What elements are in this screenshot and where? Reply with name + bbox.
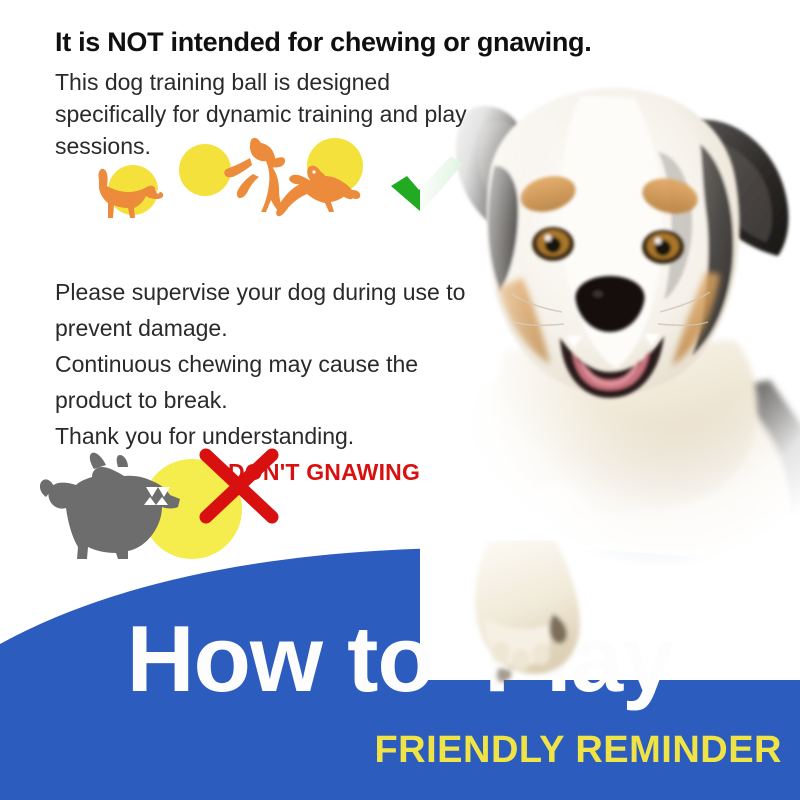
intro-paragraph: This dog training ball is designed speci… [55, 66, 485, 162]
supervision-paragraph: Please supervise your dog during use to … [55, 274, 485, 454]
dog-eye-left [532, 227, 574, 261]
banner-title: How to Play [0, 612, 800, 706]
green-check-icon [391, 156, 463, 212]
dont-gnawing-label: DON'T GNAWING [228, 459, 420, 486]
promo-infographic: It is NOT intended for chewing or gnawin… [0, 0, 800, 800]
dog-eye-right [642, 230, 684, 264]
banner-subtitle: FRIENDLY REMINDER [0, 731, 800, 769]
page-title: It is NOT intended for chewing or gnawin… [55, 27, 755, 58]
